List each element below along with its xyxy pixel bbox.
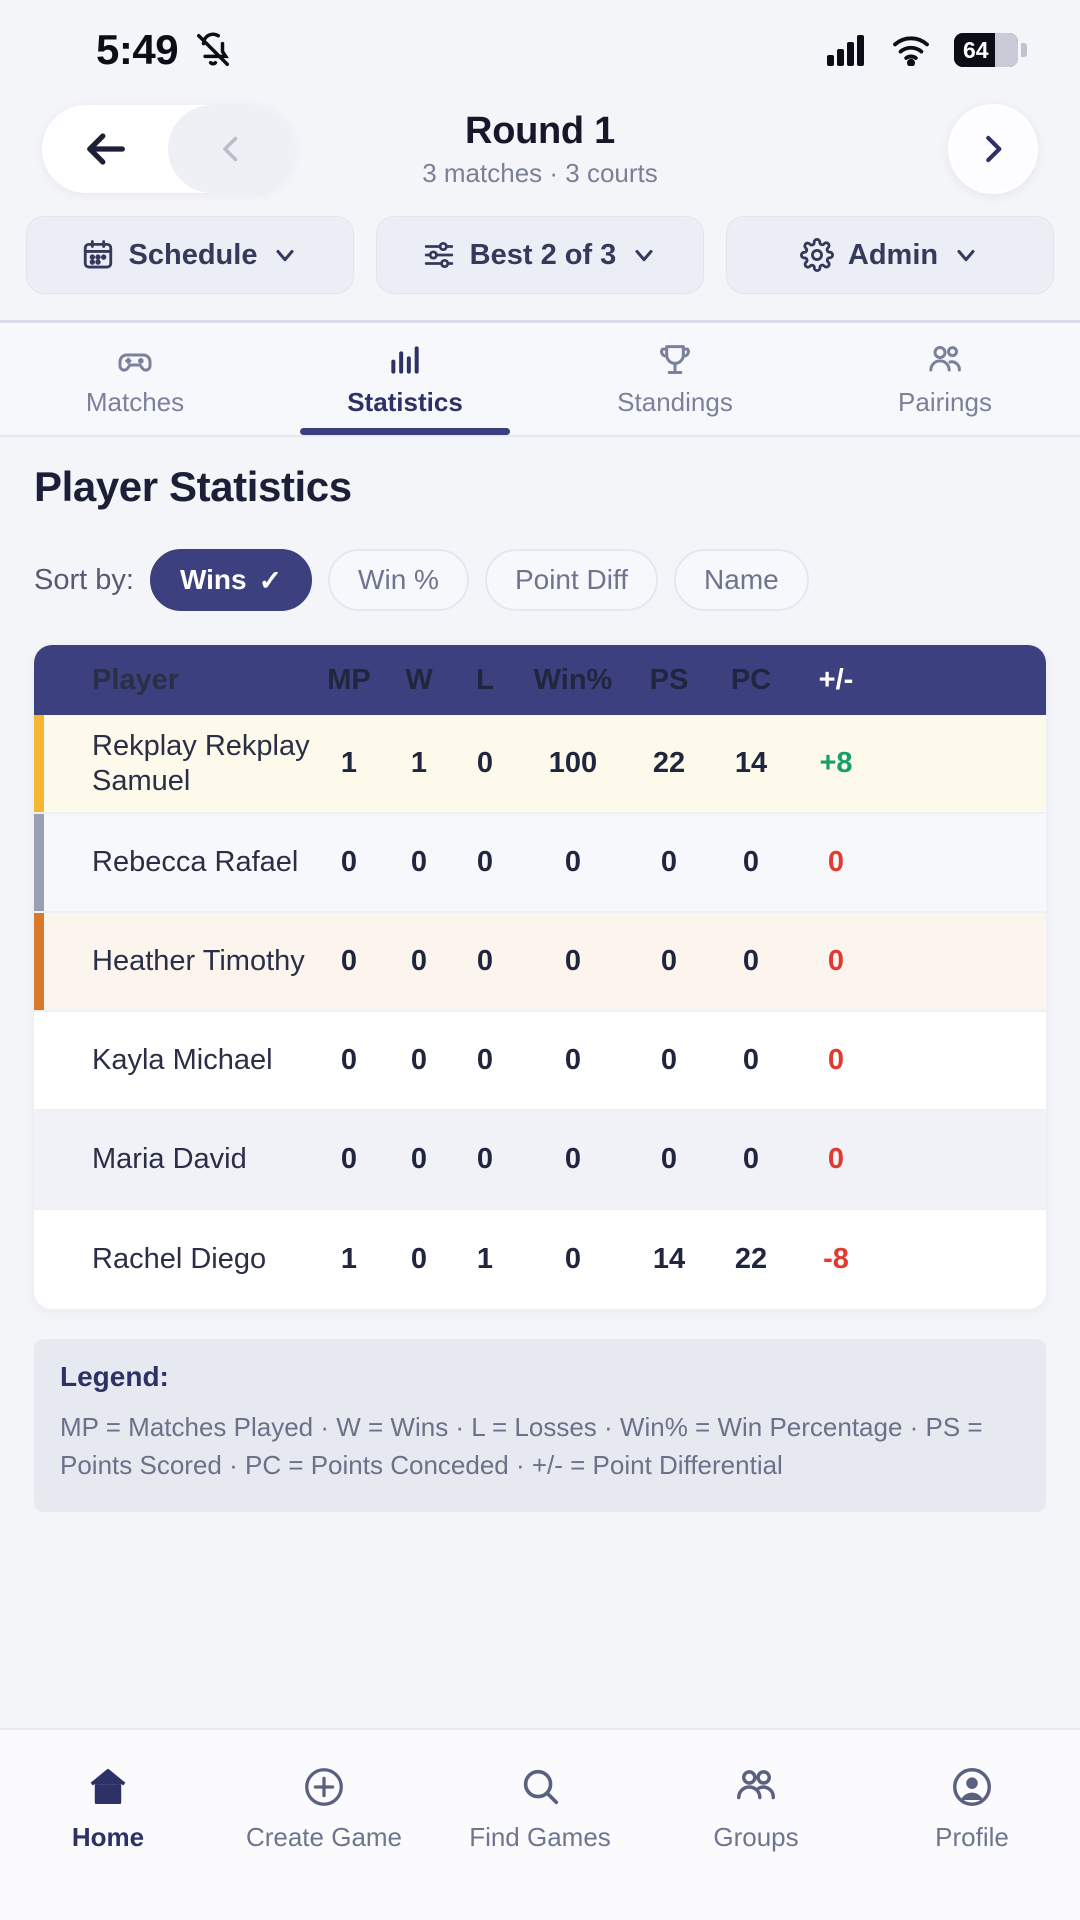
cell-winpct: 0 bbox=[518, 945, 628, 978]
cell-winpct: 0 bbox=[518, 1143, 628, 1176]
users-icon bbox=[733, 1764, 779, 1810]
cell-w: 0 bbox=[386, 1143, 452, 1176]
plus-circle-icon bbox=[301, 1764, 347, 1810]
calendar-icon bbox=[81, 238, 115, 272]
user-circle-icon bbox=[949, 1764, 995, 1810]
sort-controls: Sort by: Wins ✓ Win % Point Diff Name bbox=[34, 549, 1046, 611]
tab-standings[interactable]: Standings bbox=[540, 323, 810, 435]
cell-diff: 0 bbox=[792, 846, 880, 879]
table-row[interactable]: Kayla Michael 0 0 0 0 0 0 0 bbox=[34, 1012, 1046, 1111]
tab-pairings-label: Pairings bbox=[898, 387, 992, 418]
cell-l: 1 bbox=[452, 1243, 518, 1276]
cell-l: 0 bbox=[452, 846, 518, 879]
chevron-down-icon bbox=[630, 241, 658, 269]
sort-chip-name-label: Name bbox=[704, 564, 779, 596]
bottom-nav-create-game[interactable]: Create Game bbox=[216, 1764, 432, 1853]
cell-w: 1 bbox=[386, 747, 452, 780]
admin-dropdown[interactable]: Admin bbox=[726, 216, 1054, 294]
column-header-diff[interactable]: +/- bbox=[792, 664, 880, 697]
bell-muted-icon bbox=[194, 31, 232, 69]
sort-chip-winpct[interactable]: Win % bbox=[328, 549, 469, 611]
section-tabs: Matches Statistics Standings Pairin bbox=[0, 323, 1080, 435]
row-rank-accent bbox=[34, 913, 44, 1010]
cell-ps: 22 bbox=[628, 747, 710, 780]
cell-mp: 0 bbox=[312, 1143, 386, 1176]
bottom-navigation: Home Create Game Find Games Groups bbox=[0, 1728, 1080, 1920]
sort-chip-name[interactable]: Name bbox=[674, 549, 809, 611]
cell-diff: 0 bbox=[792, 1143, 880, 1176]
bottom-nav-profile[interactable]: Profile bbox=[864, 1764, 1080, 1853]
cell-pc: 0 bbox=[710, 945, 792, 978]
bottom-nav-profile-label: Profile bbox=[935, 1822, 1009, 1853]
chevron-down-icon bbox=[952, 241, 980, 269]
legend-body: MP = Matches Played · W = Wins · L = Los… bbox=[60, 1409, 1020, 1484]
legend-title: Legend: bbox=[60, 1361, 1020, 1393]
cell-pc: 0 bbox=[710, 1143, 792, 1176]
cell-ps: 0 bbox=[628, 1044, 710, 1077]
section-title: Player Statistics bbox=[34, 463, 1046, 511]
cell-diff: -8 bbox=[792, 1243, 880, 1276]
cell-mp: 0 bbox=[312, 846, 386, 879]
sort-chip-pointdiff-label: Point Diff bbox=[515, 564, 628, 596]
main-content: Player Statistics Sort by: Wins ✓ Win % … bbox=[0, 437, 1080, 1512]
schedule-dropdown-label: Schedule bbox=[129, 239, 258, 272]
cellular-signal-icon bbox=[826, 34, 868, 66]
cell-ps: 0 bbox=[628, 1143, 710, 1176]
wifi-icon bbox=[890, 34, 932, 66]
cell-w: 0 bbox=[386, 1243, 452, 1276]
column-header-mp[interactable]: MP bbox=[312, 664, 386, 697]
page-header: Round 1 3 matches · 3 courts bbox=[0, 100, 1080, 198]
bottom-nav-home[interactable]: Home bbox=[0, 1764, 216, 1853]
trophy-icon bbox=[655, 340, 695, 380]
table-row[interactable]: Rachel Diego 1 0 1 0 14 22 -8 bbox=[34, 1210, 1046, 1309]
battery-indicator: 64 bbox=[954, 33, 1018, 67]
table-row[interactable]: Maria David 0 0 0 0 0 0 0 bbox=[34, 1111, 1046, 1210]
next-round-button[interactable] bbox=[948, 104, 1038, 194]
cell-player: Maria David bbox=[34, 1142, 312, 1176]
cell-mp: 0 bbox=[312, 945, 386, 978]
cell-mp: 0 bbox=[312, 1044, 386, 1077]
cell-w: 0 bbox=[386, 1044, 452, 1077]
cell-ps: 14 bbox=[628, 1243, 710, 1276]
cell-player: Rekplay Rekplay Samuel bbox=[34, 729, 312, 797]
status-bar-right: 64 bbox=[826, 33, 1018, 67]
cell-winpct: 100 bbox=[518, 747, 628, 780]
sort-chip-wins-label: Wins bbox=[180, 564, 247, 596]
users-icon bbox=[925, 340, 965, 380]
filter-dropdown-row: Schedule Best 2 of 3 Admin bbox=[0, 198, 1080, 320]
status-time: 5:49 bbox=[96, 26, 178, 74]
cell-diff: 0 bbox=[792, 945, 880, 978]
bottom-nav-create-game-label: Create Game bbox=[246, 1822, 402, 1853]
tab-standings-label: Standings bbox=[617, 387, 733, 418]
cell-diff: +8 bbox=[792, 747, 880, 780]
bottom-nav-groups[interactable]: Groups bbox=[648, 1764, 864, 1853]
sliders-icon bbox=[422, 238, 456, 272]
status-bar-left: 5:49 bbox=[96, 26, 232, 74]
chevron-left-icon bbox=[213, 131, 249, 167]
cell-player: Rachel Diego bbox=[34, 1242, 312, 1276]
tab-matches[interactable]: Matches bbox=[0, 323, 270, 435]
column-header-w[interactable]: W bbox=[386, 664, 452, 697]
bottom-nav-home-label: Home bbox=[72, 1822, 144, 1853]
tab-matches-label: Matches bbox=[86, 387, 184, 418]
chevron-right-icon bbox=[974, 130, 1012, 168]
cell-ps: 0 bbox=[628, 846, 710, 879]
column-header-winpct[interactable]: Win% bbox=[518, 664, 628, 697]
cell-player: Kayla Michael bbox=[34, 1043, 312, 1077]
home-icon bbox=[85, 1764, 131, 1810]
cell-pc: 0 bbox=[710, 1044, 792, 1077]
column-header-ps[interactable]: PS bbox=[628, 664, 710, 697]
nav-pill bbox=[42, 105, 294, 193]
search-icon bbox=[517, 1764, 563, 1810]
column-header-pc[interactable]: PC bbox=[710, 664, 792, 697]
cell-player: Rebecca Rafael bbox=[34, 845, 312, 879]
legend-panel: Legend: MP = Matches Played · W = Wins ·… bbox=[34, 1339, 1046, 1512]
cell-ps: 0 bbox=[628, 945, 710, 978]
cell-l: 0 bbox=[452, 1044, 518, 1077]
cell-l: 0 bbox=[452, 945, 518, 978]
column-header-l[interactable]: L bbox=[452, 664, 518, 697]
battery-level: 64 bbox=[954, 37, 989, 64]
cell-winpct: 0 bbox=[518, 846, 628, 879]
cell-pc: 22 bbox=[710, 1243, 792, 1276]
cell-pc: 14 bbox=[710, 747, 792, 780]
previous-round-button[interactable] bbox=[168, 105, 294, 193]
table-row[interactable]: Heather Timothy 0 0 0 0 0 0 0 bbox=[34, 913, 1046, 1012]
tab-pairings[interactable]: Pairings bbox=[810, 323, 1080, 435]
bottom-nav-find-games-label: Find Games bbox=[469, 1822, 611, 1853]
bottom-nav-groups-label: Groups bbox=[713, 1822, 798, 1853]
sort-chip-pointdiff[interactable]: Point Diff bbox=[485, 549, 658, 611]
cell-player: Heather Timothy bbox=[34, 944, 312, 978]
gear-icon bbox=[800, 238, 834, 272]
table-row[interactable]: Rekplay Rekplay Samuel 1 1 0 100 22 14 +… bbox=[34, 715, 1046, 814]
sort-chip-wins[interactable]: Wins ✓ bbox=[150, 549, 312, 611]
tab-statistics[interactable]: Statistics bbox=[270, 323, 540, 435]
table-header-row: Player MP W L Win% PS PC +/- bbox=[34, 645, 1046, 715]
sort-label: Sort by: bbox=[34, 564, 134, 597]
format-dropdown[interactable]: Best 2 of 3 bbox=[376, 216, 704, 294]
cell-mp: 1 bbox=[312, 1243, 386, 1276]
cell-w: 0 bbox=[386, 846, 452, 879]
check-icon: ✓ bbox=[259, 564, 282, 597]
bar-chart-icon bbox=[385, 340, 425, 380]
chevron-down-icon bbox=[271, 241, 299, 269]
row-rank-accent bbox=[34, 814, 44, 911]
cell-winpct: 0 bbox=[518, 1243, 628, 1276]
sort-chip-winpct-label: Win % bbox=[358, 564, 439, 596]
cell-winpct: 0 bbox=[518, 1044, 628, 1077]
schedule-dropdown[interactable]: Schedule bbox=[26, 216, 354, 294]
gamepad-icon bbox=[115, 340, 155, 380]
format-dropdown-label: Best 2 of 3 bbox=[470, 239, 617, 272]
admin-dropdown-label: Admin bbox=[848, 239, 938, 272]
back-button[interactable] bbox=[42, 123, 168, 175]
player-statistics-table: Player MP W L Win% PS PC +/- Rekplay Rek… bbox=[34, 645, 1046, 1309]
cell-w: 0 bbox=[386, 945, 452, 978]
table-row[interactable]: Rebecca Rafael 0 0 0 0 0 0 0 bbox=[34, 814, 1046, 913]
cell-pc: 0 bbox=[710, 846, 792, 879]
cell-l: 0 bbox=[452, 1143, 518, 1176]
row-rank-accent bbox=[34, 715, 44, 812]
status-bar: 5:49 64 bbox=[0, 0, 1080, 100]
cell-diff: 0 bbox=[792, 1044, 880, 1077]
tab-statistics-label: Statistics bbox=[347, 387, 463, 418]
arrow-left-icon bbox=[79, 123, 131, 175]
bottom-nav-find-games[interactable]: Find Games bbox=[432, 1764, 648, 1853]
cell-mp: 1 bbox=[312, 747, 386, 780]
column-header-player[interactable]: Player bbox=[34, 663, 312, 697]
cell-l: 0 bbox=[452, 747, 518, 780]
